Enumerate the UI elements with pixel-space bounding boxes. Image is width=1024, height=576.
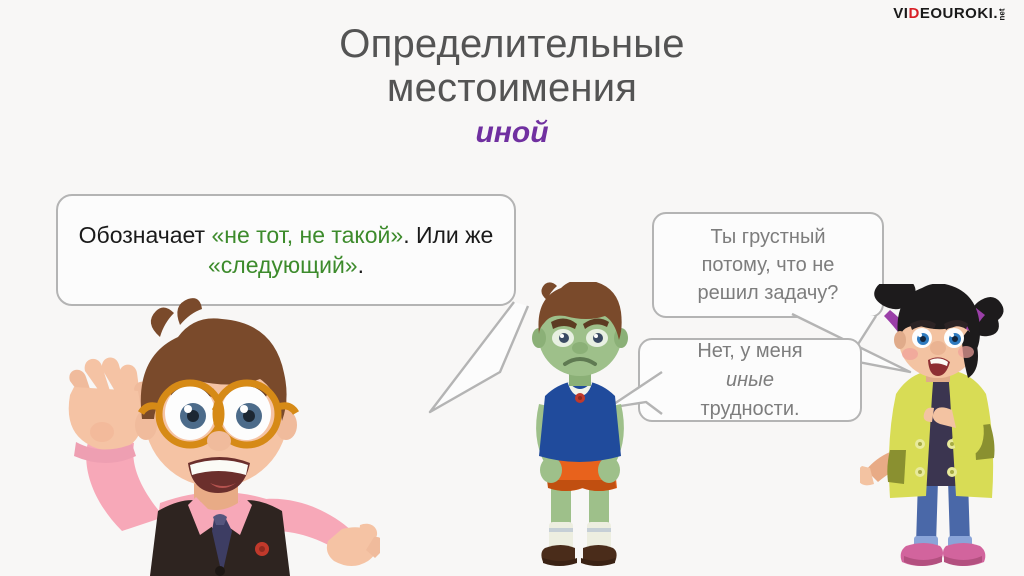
girl-head [874, 284, 1003, 378]
boy-answer-text: Нет, у меня иные трудности. [640, 337, 860, 424]
page-title-line2: местоимения [0, 66, 1024, 110]
girl-question-line1: Ты грустный [662, 223, 874, 251]
page-title-line1: Определительные [0, 22, 1024, 66]
girl-question-line3: решил задачу? [662, 279, 874, 307]
definition-bubble-text: Обозначает «не тот, не такой». Или же «с… [58, 220, 514, 280]
boy-head [135, 298, 297, 493]
watermark-brand: VI [893, 5, 908, 22]
definition-seg-0: Обозначает [79, 222, 212, 248]
definition-seg-2: . Или же [403, 222, 493, 248]
watermark-tld: net [998, 9, 1007, 21]
boy-answer-line1: Нет, у меня [648, 337, 852, 366]
waving-boy-with-glasses [30, 285, 380, 576]
girl-in-yellow-coat [860, 284, 1020, 576]
sad-green-boy [505, 282, 655, 576]
girl-question-text: Ты грустный потому, что не решил задачу? [654, 223, 882, 307]
sad-boy-head [532, 282, 628, 376]
girl-question-line2: потому, что не [662, 251, 874, 279]
boy-answer-line3: трудности. [648, 395, 852, 424]
definition-seg-1: «не тот, не такой» [211, 222, 403, 248]
definition-seg-3: «следующий» [208, 252, 358, 278]
definition-seg-4: . [358, 252, 364, 278]
boy-answer-line2-italic: иные [648, 366, 852, 395]
watermark-brand-rest: EOUROKI. [920, 5, 998, 22]
slide-root: VIDEOUROKI.net Определительные местоимен… [0, 0, 1024, 576]
videouroki-watermark: VIDEOUROKI.net [893, 5, 1010, 22]
page-subtitle: иной [0, 116, 1024, 150]
girl-question-bubble: Ты грустный потому, что не решил задачу? [652, 212, 884, 318]
boy-answer-bubble: Нет, у меня иные трудности. [638, 338, 862, 422]
title-block: Определительные местоимения иной [0, 22, 1024, 150]
watermark-accent-letter: D [908, 5, 919, 22]
